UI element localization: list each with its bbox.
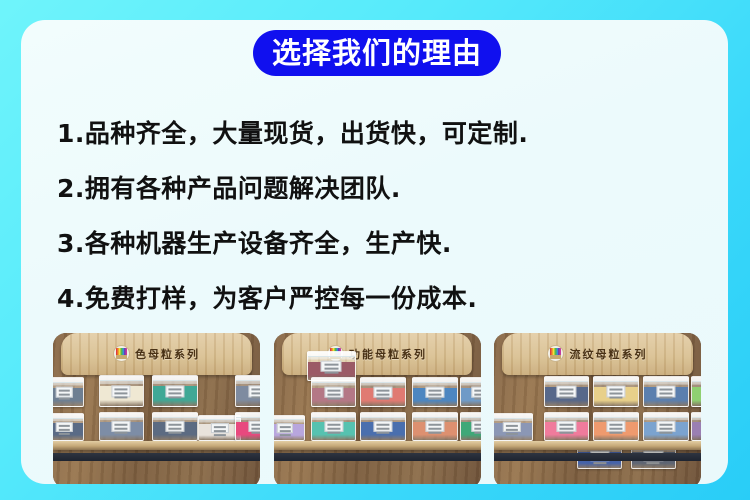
container-lid — [235, 413, 260, 418]
pellet-container — [494, 413, 533, 441]
container-lid — [311, 413, 356, 418]
reasons-list: 1.品种齐全，大量现货，出货快，可定制. 2.拥有各种产品问题解决团队. 3.各… — [57, 106, 697, 326]
title-badge: 选择我们的理由 — [253, 30, 501, 76]
container-label — [607, 386, 626, 398]
container-label — [607, 421, 626, 432]
container-lid — [460, 378, 480, 383]
pellet-container — [360, 412, 406, 441]
container-lid — [361, 413, 406, 418]
container-label — [56, 386, 72, 397]
content-panel: 选择我们的理由 1.品种齐全，大量现货，出货快，可定制. 2.拥有各种产品问题解… — [21, 20, 728, 484]
list-item: 2.拥有各种产品问题解决团队. — [57, 161, 697, 216]
container-label — [166, 385, 185, 397]
container-label — [472, 386, 481, 397]
container-label — [374, 386, 393, 397]
pellet-container — [460, 412, 481, 441]
shelf-sign-label: 流纹母粒系列 — [569, 346, 647, 362]
container-lid — [544, 413, 589, 418]
pellet-container — [152, 412, 198, 441]
pellet-fill — [692, 387, 701, 406]
shelf-sign-label: 功能母粒系列 — [349, 346, 427, 362]
pellet-container — [593, 376, 639, 407]
container-lid — [307, 352, 357, 357]
pellet-container — [235, 412, 260, 441]
container-lid — [412, 413, 457, 418]
product-photo-strip: 色母粒系列 功能母粒系列 流纹母粒系列 — [53, 333, 701, 484]
container-lid — [494, 414, 533, 419]
container-label — [112, 385, 131, 397]
shelf-sign-label: 色母粒系列 — [135, 346, 200, 362]
brand-logo-icon — [547, 345, 564, 362]
container-label — [321, 360, 342, 371]
container-lid — [99, 376, 144, 381]
container-label — [557, 421, 576, 432]
container-lid — [53, 414, 84, 419]
pellet-container — [274, 415, 305, 441]
shelf-board — [53, 441, 260, 450]
shelf-board — [494, 441, 701, 450]
container-lid — [544, 377, 589, 382]
shelf-rail — [494, 453, 701, 461]
pellet-container — [544, 376, 590, 407]
container-lid — [311, 378, 356, 383]
container-lid — [153, 413, 198, 418]
container-lid — [412, 378, 457, 383]
product-photo-color-masterbatch: 色母粒系列 — [53, 333, 260, 484]
container-lid — [643, 413, 688, 418]
pellet-container — [53, 377, 84, 407]
container-lid — [274, 416, 305, 420]
container-label — [248, 385, 260, 397]
container-label — [374, 421, 393, 432]
pellet-container — [643, 376, 689, 407]
shelf-rail — [274, 453, 481, 461]
shelf-rail — [53, 453, 260, 461]
container-lid — [235, 376, 260, 381]
shelf-signboard: 色母粒系列 — [61, 333, 251, 375]
pellet-container — [235, 375, 260, 407]
pellet-container — [691, 412, 701, 441]
container-label — [277, 423, 293, 433]
list-item: 1.品种齐全，大量现货，出货快，可定制. — [57, 106, 697, 161]
container-lid — [594, 413, 639, 418]
pellet-container — [99, 412, 145, 441]
pellet-container — [412, 412, 458, 441]
container-label — [211, 423, 229, 433]
pellet-container — [53, 413, 84, 441]
container-label — [472, 421, 481, 432]
container-label — [324, 386, 343, 397]
page-title: 选择我们的理由 — [272, 39, 482, 68]
pellet-container — [544, 412, 590, 441]
container-lid — [643, 377, 688, 382]
container-label — [112, 421, 131, 432]
pellet-container — [460, 377, 481, 407]
pellet-container — [311, 412, 357, 441]
container-lid — [594, 377, 639, 382]
container-label — [324, 421, 343, 432]
pellet-container — [311, 377, 357, 407]
container-label — [557, 386, 576, 398]
container-lid — [691, 413, 701, 418]
container-label — [56, 422, 72, 432]
container-label — [502, 422, 520, 432]
container-lid — [153, 376, 198, 381]
promo-banner: 选择我们的理由 1.品种齐全，大量现货，出货快，可定制. 2.拥有各种产品问题解… — [0, 0, 750, 500]
pellet-container — [99, 375, 145, 407]
container-lid — [99, 413, 144, 418]
list-item: 4.免费打样，为客户严控每一份成本. — [57, 271, 697, 326]
container-lid — [53, 378, 84, 383]
shelf-signboard: 流纹母粒系列 — [502, 333, 692, 375]
container-label — [425, 421, 444, 432]
container-label — [656, 386, 675, 398]
pellet-container — [691, 376, 701, 407]
pellet-fill — [692, 422, 701, 440]
shelf-board — [274, 441, 481, 450]
pellet-container — [643, 412, 689, 441]
container-label — [248, 421, 260, 432]
brand-logo-icon — [113, 345, 130, 362]
list-item: 3.各种机器生产设备齐全，生产快. — [57, 216, 697, 271]
product-photo-functional-masterbatch: 功能母粒系列 — [274, 333, 481, 484]
container-label — [656, 421, 675, 432]
container-lid — [691, 377, 701, 382]
pellet-container — [360, 377, 406, 407]
product-photo-marble-masterbatch: 流纹母粒系列 — [494, 333, 701, 484]
container-label — [166, 421, 185, 432]
container-lid — [361, 378, 406, 383]
container-label — [425, 386, 444, 397]
pellet-container — [412, 377, 458, 407]
container-lid — [460, 413, 480, 418]
pellet-container — [152, 375, 198, 407]
pellet-container — [593, 412, 639, 441]
